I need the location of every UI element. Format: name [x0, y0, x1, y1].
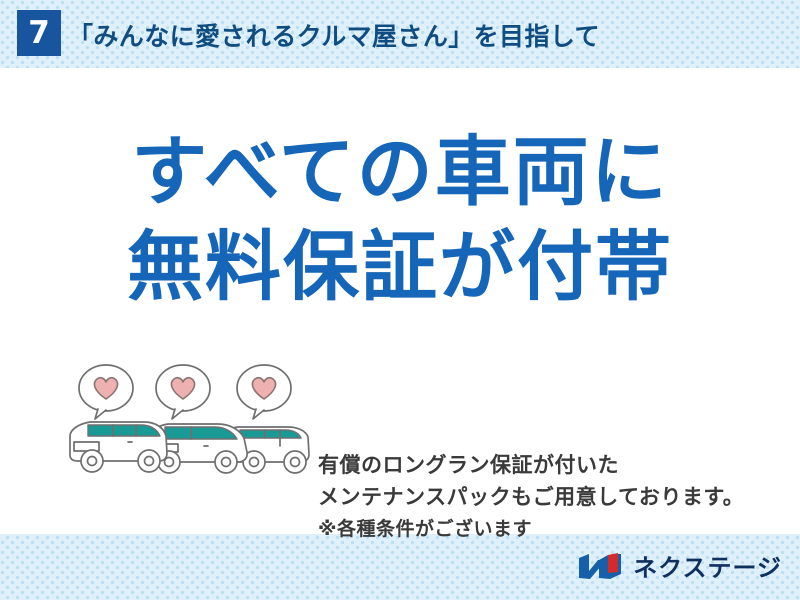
promo-banner: 7 「みんなに愛されるクルマ屋さん」を目指して すべての車両に 無料保証が付帯: [0, 0, 800, 600]
headline-line-2: 無料保証が付帯: [0, 219, 800, 314]
headline: すべての車両に 無料保証が付帯: [0, 124, 800, 314]
content-card: すべての車両に 無料保証が付帯: [0, 68, 800, 534]
nextstage-logo: ネクステージ: [577, 548, 782, 583]
banner-header: 7 「みんなに愛されるクルマ屋さん」を目指して: [0, 0, 800, 68]
nextstage-n-mark-icon: [577, 551, 623, 581]
heart-bubble-1: [79, 365, 133, 419]
cars-illustration-svg: [52, 358, 314, 488]
lower-section: 有償のロングラン保証が付いた メンテナンスパックもご用意しております。 ※各種条…: [0, 358, 800, 518]
nextstage-brand-text: ネクステージ: [633, 548, 782, 583]
body-line-2: メンテナンスパックもご用意しております。: [318, 482, 744, 514]
body-line-1: 有償のロングラン保証が付いた: [318, 450, 744, 482]
header-title: 「みんなに愛されるクルマ屋さん」を目指して: [68, 17, 600, 53]
heart-bubble-2: [156, 365, 210, 419]
heart-bubble-3: [237, 365, 291, 419]
body-copy: 有償のロングラン保証が付いた メンテナンスパックもご用意しております。 ※各種条…: [318, 450, 744, 546]
cars-illustration: [52, 358, 314, 488]
banner-footer: ネクステージ: [0, 534, 800, 600]
step-number-badge: 7: [17, 10, 61, 56]
car-kei-van: [70, 422, 167, 472]
headline-line-1: すべての車両に: [131, 127, 669, 216]
